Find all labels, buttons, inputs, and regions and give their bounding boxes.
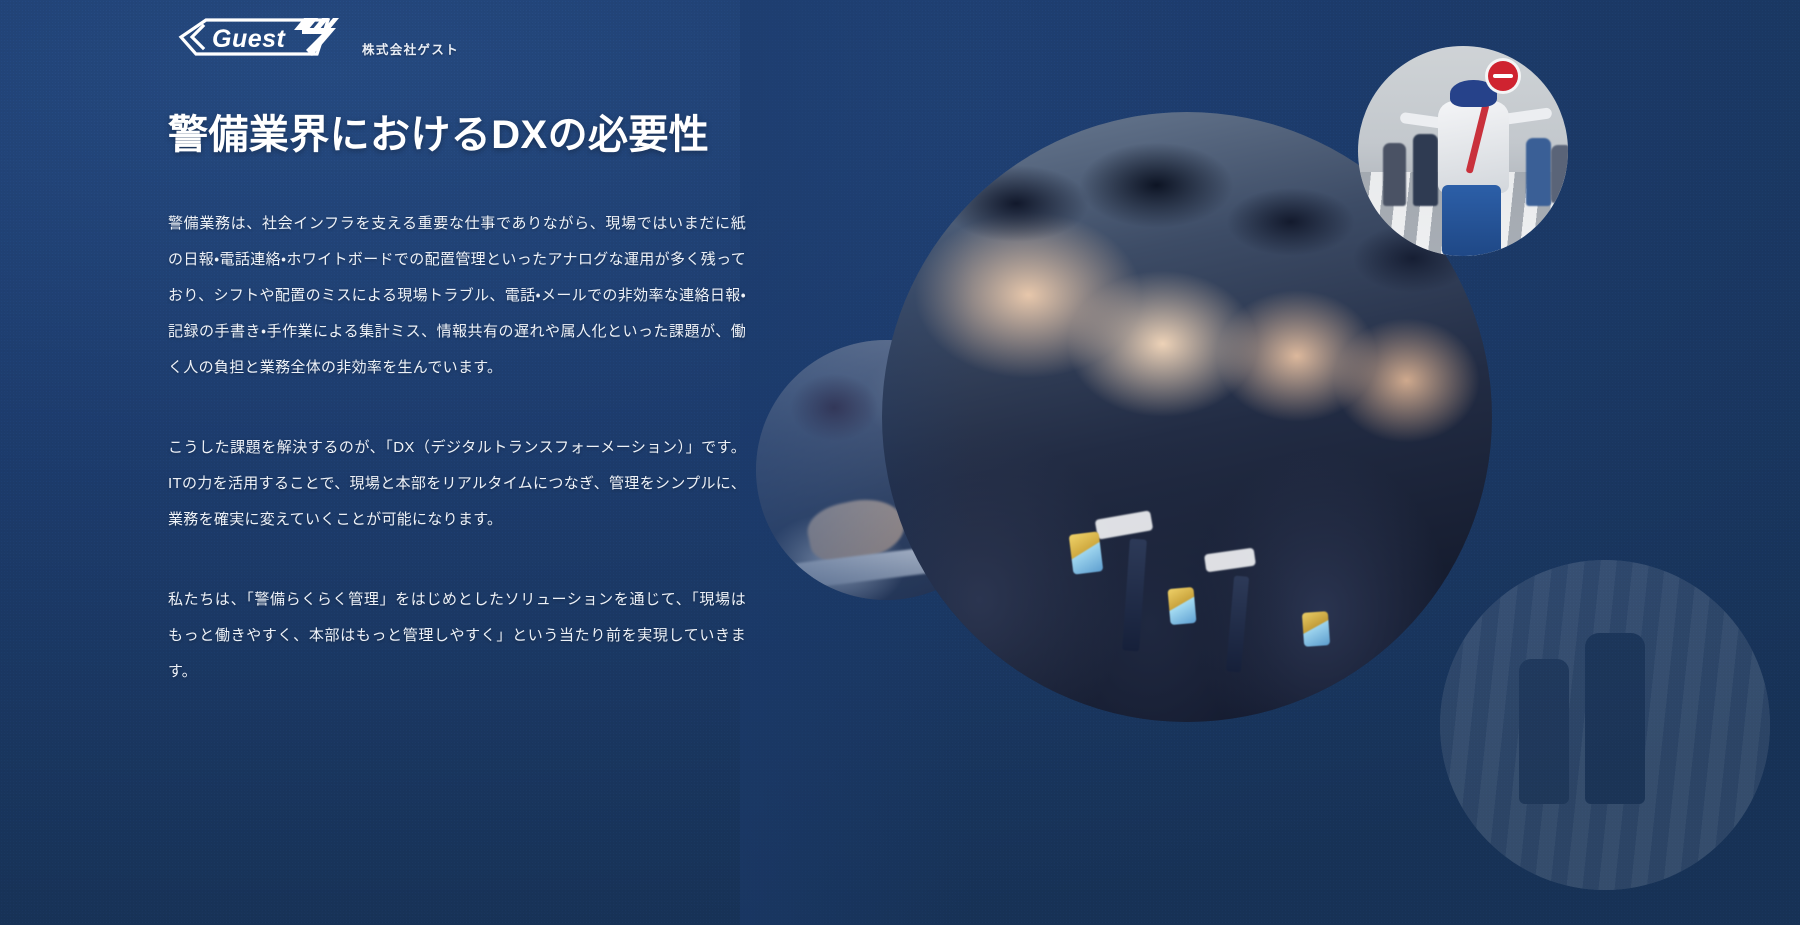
traffic-guard-photo bbox=[1358, 46, 1568, 256]
site-header: Guest 株式会社ゲスト bbox=[176, 14, 459, 60]
guest-arrow-logo-icon: Guest bbox=[176, 14, 344, 60]
hero-content: 警備業界におけるDXの必要性 警備業務は、社会インフラを支える重要な仕事でありな… bbox=[168, 110, 768, 690]
no-entry-sign-icon bbox=[1488, 61, 1518, 91]
svg-text:Guest: Guest bbox=[212, 25, 287, 53]
hero-page: Guest 株式会社ゲスト bbox=[0, 0, 1800, 925]
brand-logo[interactable]: Guest bbox=[176, 14, 344, 60]
body-paragraph-1: 警備業務は、社会インフラを支える重要な仕事でありながら、現場ではいまだに紙の日報… bbox=[168, 206, 746, 386]
body-paragraph-3: 私たちは、「警備らくらく管理」をはじめとしたソリューションを通じて、「現場はもっ… bbox=[168, 582, 746, 690]
photo-collage bbox=[740, 0, 1800, 925]
page-title: 警備業界におけるDXの必要性 bbox=[168, 110, 768, 160]
company-name: 株式会社ゲスト bbox=[362, 39, 459, 60]
body-paragraph-2: こうした課題を解決するのが、「DX（デジタルトランスフォーメーション）」です。I… bbox=[168, 430, 746, 538]
